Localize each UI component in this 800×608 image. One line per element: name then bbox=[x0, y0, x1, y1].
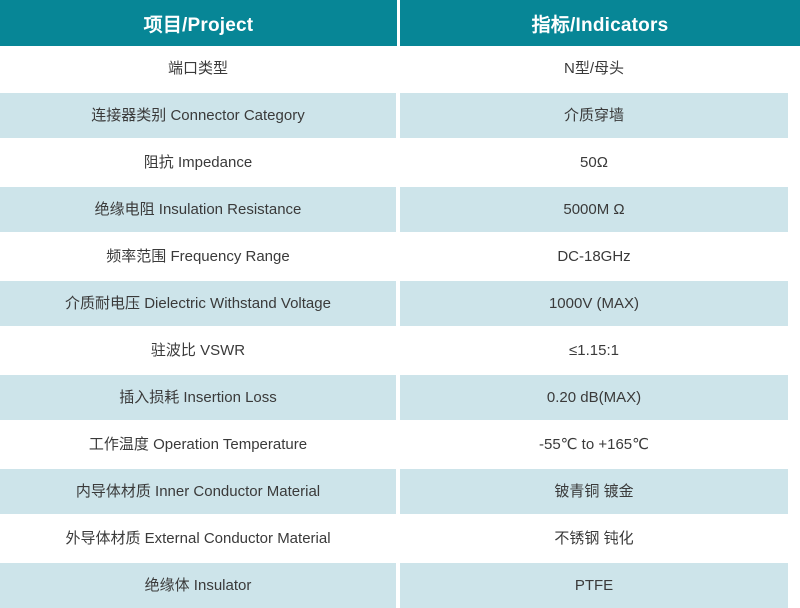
cell-project-text: 内导体材质 Inner Conductor Material bbox=[0, 483, 396, 501]
cell-project: 绝缘体 Insulator bbox=[0, 563, 400, 608]
cell-indicator: 1000V (MAX) bbox=[400, 281, 800, 328]
cell-indicator-text: 1000V (MAX) bbox=[400, 295, 788, 313]
cell-project-text: 阻抗 Impedance bbox=[0, 154, 396, 172]
cell-project: 阻抗 Impedance bbox=[0, 140, 400, 187]
cell-indicator: 不锈钢 钝化 bbox=[400, 516, 800, 563]
cell-project-text: 驻波比 VSWR bbox=[0, 342, 396, 360]
cell-indicator-text: -55℃ to +165℃ bbox=[400, 436, 788, 454]
cell-indicator: 介质穿墙 bbox=[400, 93, 800, 140]
cell-indicator-text: DC-18GHz bbox=[400, 248, 788, 266]
table-row: 内导体材质 Inner Conductor Material铍青铜 镀金 bbox=[0, 469, 800, 516]
cell-indicator-text: N型/母头 bbox=[400, 60, 788, 78]
table-header: 项目/Project 指标/Indicators bbox=[0, 0, 800, 46]
cell-project: 介质耐电压 Dielectric Withstand Voltage bbox=[0, 281, 400, 328]
cell-project-text: 工作温度 Operation Temperature bbox=[0, 436, 396, 454]
cell-project: 频率范围 Frequency Range bbox=[0, 234, 400, 281]
cell-indicator-text: 5000M Ω bbox=[400, 201, 788, 219]
cell-indicator: 铍青铜 镀金 bbox=[400, 469, 800, 516]
table-row: 外导体材质 External Conductor Material不锈钢 钝化 bbox=[0, 516, 800, 563]
cell-indicator: -55℃ to +165℃ bbox=[400, 422, 800, 469]
cell-indicator-text: 0.20 dB(MAX) bbox=[400, 389, 788, 407]
table-row: 驻波比 VSWR≤1.15:1 bbox=[0, 328, 800, 375]
cell-project-text: 绝缘体 Insulator bbox=[0, 577, 396, 595]
cell-indicator: 5000M Ω bbox=[400, 187, 800, 234]
cell-indicator: 0.20 dB(MAX) bbox=[400, 375, 800, 422]
cell-project: 端口类型 bbox=[0, 46, 400, 93]
cell-project-text: 外导体材质 External Conductor Material bbox=[0, 530, 396, 548]
cell-indicator-text: 介质穿墙 bbox=[400, 107, 788, 125]
cell-indicator-text: PTFE bbox=[400, 577, 788, 595]
cell-project: 连接器类别 Connector Category bbox=[0, 93, 400, 140]
cell-project-text: 介质耐电压 Dielectric Withstand Voltage bbox=[0, 295, 396, 313]
cell-project-text: 端口类型 bbox=[0, 60, 396, 78]
table-row: 端口类型N型/母头 bbox=[0, 46, 800, 93]
table-row: 插入损耗 Insertion Loss0.20 dB(MAX) bbox=[0, 375, 800, 422]
cell-project: 内导体材质 Inner Conductor Material bbox=[0, 469, 400, 516]
cell-project-text: 频率范围 Frequency Range bbox=[0, 248, 396, 266]
specification-table: 项目/Project 指标/Indicators 端口类型N型/母头连接器类别 … bbox=[0, 0, 800, 608]
cell-project: 驻波比 VSWR bbox=[0, 328, 400, 375]
cell-indicator: N型/母头 bbox=[400, 46, 800, 93]
cell-project: 外导体材质 External Conductor Material bbox=[0, 516, 400, 563]
table-header-row: 项目/Project 指标/Indicators bbox=[0, 0, 800, 46]
table-row: 绝缘体 InsulatorPTFE bbox=[0, 563, 800, 608]
cell-indicator: ≤1.15:1 bbox=[400, 328, 800, 375]
column-header-indicators: 指标/Indicators bbox=[400, 0, 800, 46]
cell-project-text: 插入损耗 Insertion Loss bbox=[0, 389, 396, 407]
cell-indicator: 50Ω bbox=[400, 140, 800, 187]
cell-indicator-text: 50Ω bbox=[400, 154, 788, 172]
cell-project: 绝缘电阻 Insulation Resistance bbox=[0, 187, 400, 234]
table-body: 端口类型N型/母头连接器类别 Connector Category介质穿墙阻抗 … bbox=[0, 46, 800, 608]
cell-indicator-text: 铍青铜 镀金 bbox=[400, 483, 788, 501]
cell-indicator-text: ≤1.15:1 bbox=[400, 342, 788, 360]
cell-project: 工作温度 Operation Temperature bbox=[0, 422, 400, 469]
column-header-project: 项目/Project bbox=[0, 0, 400, 46]
table-row: 阻抗 Impedance50Ω bbox=[0, 140, 800, 187]
cell-project: 插入损耗 Insertion Loss bbox=[0, 375, 400, 422]
table-row: 介质耐电压 Dielectric Withstand Voltage1000V … bbox=[0, 281, 800, 328]
table-row: 绝缘电阻 Insulation Resistance5000M Ω bbox=[0, 187, 800, 234]
cell-indicator: PTFE bbox=[400, 563, 800, 608]
table-row: 频率范围 Frequency RangeDC-18GHz bbox=[0, 234, 800, 281]
cell-indicator: DC-18GHz bbox=[400, 234, 800, 281]
cell-project-text: 连接器类别 Connector Category bbox=[0, 107, 396, 125]
cell-indicator-text: 不锈钢 钝化 bbox=[400, 530, 788, 548]
table-row: 连接器类别 Connector Category介质穿墙 bbox=[0, 93, 800, 140]
table-row: 工作温度 Operation Temperature-55℃ to +165℃ bbox=[0, 422, 800, 469]
cell-project-text: 绝缘电阻 Insulation Resistance bbox=[0, 201, 396, 219]
